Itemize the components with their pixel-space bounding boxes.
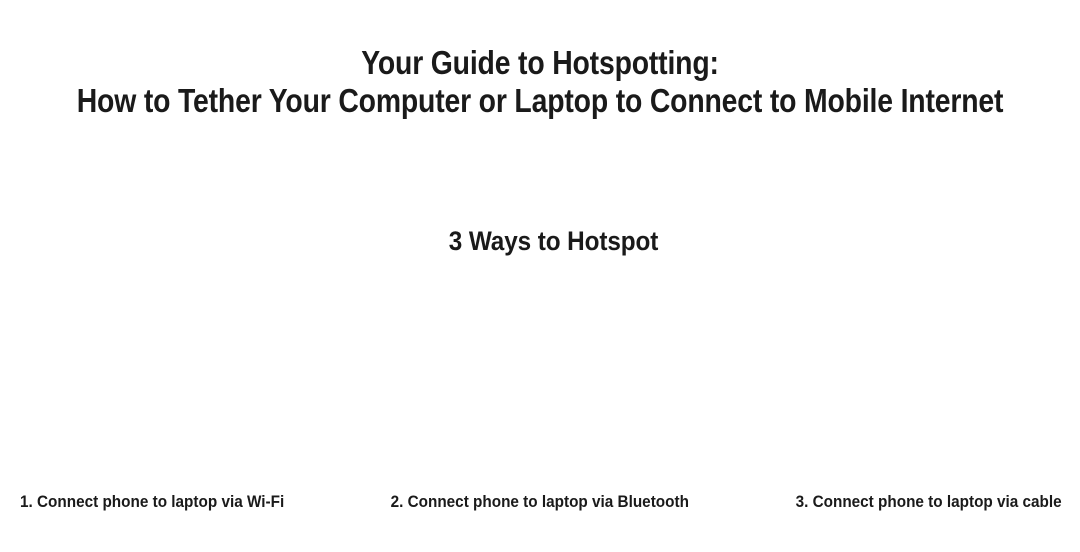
page-title: Your Guide to Hotspotting: How to Tether…	[0, 44, 1080, 120]
method-captions-row: 1. Connect phone to laptop via Wi-Fi 2. …	[0, 489, 1080, 515]
bluetooth-tethering-illustration	[360, 282, 720, 478]
method-caption-1: 1. Connect phone to laptop via Wi-Fi	[0, 491, 360, 513]
cable-tethering-illustration	[720, 282, 1080, 478]
figure-slot-cable	[720, 282, 1080, 478]
figure-slot-wifi	[0, 282, 360, 478]
figure-slot-bluetooth	[360, 282, 720, 478]
method-caption-3: 3. Connect phone to laptop via cable	[720, 491, 1080, 513]
page-title-line-2: How to Tether Your Computer or Laptop to…	[76, 82, 1005, 120]
page-title-line-1: Your Guide to Hotspotting:	[76, 44, 1005, 82]
method-caption-1-label: 1. Connect phone to laptop via Wi-Fi	[20, 491, 284, 513]
method-figures-row	[0, 282, 1080, 478]
section-heading: 3 Ways to Hotspot	[55, 224, 1051, 258]
method-caption-3-label: 3. Connect phone to laptop via cable	[796, 491, 1062, 513]
method-caption-2-label: 2. Connect phone to laptop via Bluetooth	[391, 491, 689, 513]
infographic-page: Your Guide to Hotspotting: How to Tether…	[0, 0, 1080, 552]
method-caption-2: 2. Connect phone to laptop via Bluetooth	[360, 491, 720, 513]
wifi-tethering-illustration	[0, 282, 360, 478]
